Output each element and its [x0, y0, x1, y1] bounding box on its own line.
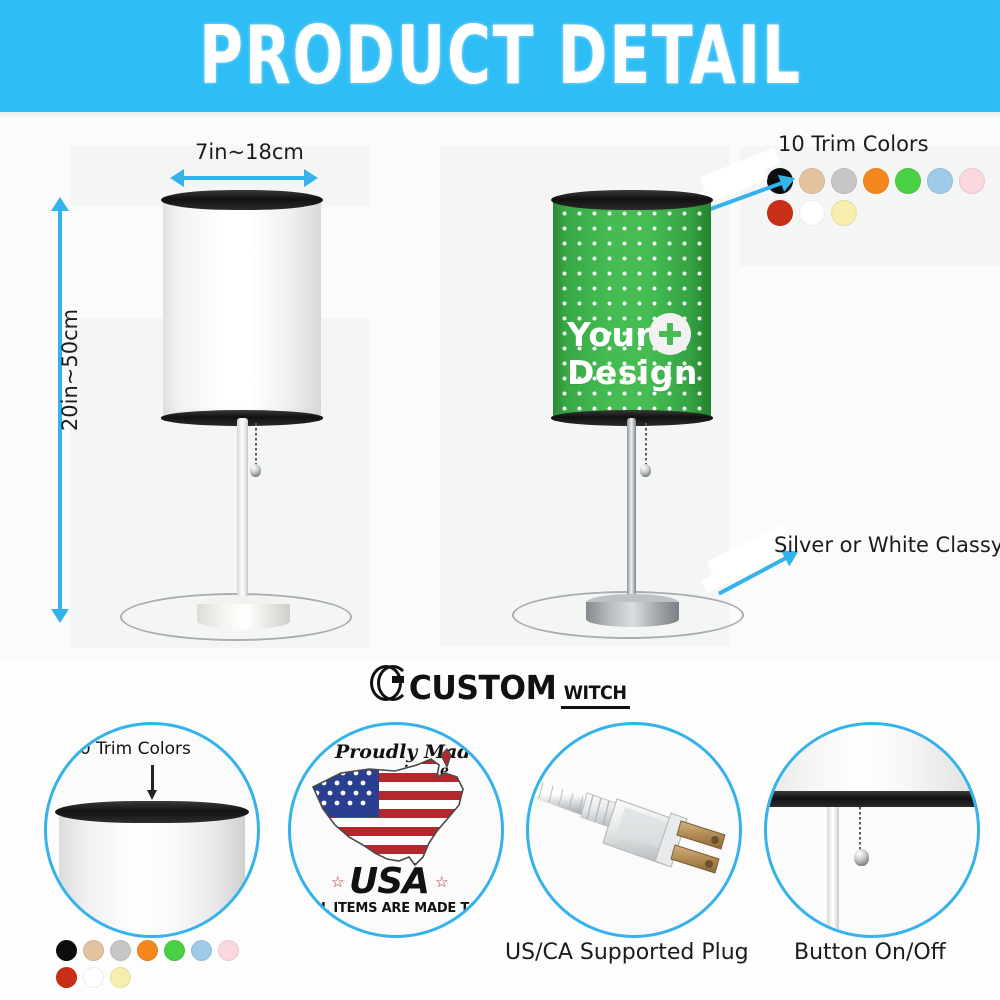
swatch-tan[interactable]: [83, 940, 104, 961]
shade-surface: Your Design: [553, 200, 711, 418]
lamp-base: [197, 596, 290, 636]
header-banner: PRODUCT DETAIL: [0, 0, 1000, 112]
pull-chain[interactable]: [255, 423, 257, 465]
trim-colors-title: 10 Trim Colors: [778, 132, 929, 156]
star-icon-right: ☆: [435, 873, 448, 891]
shade-top-trim: [55, 801, 249, 823]
swatch-yellow[interactable]: [831, 200, 857, 226]
swatch-green[interactable]: [164, 940, 185, 961]
lamp-showcase: 10 Trim Colors 7in~18cm 20in~50cm: [0, 118, 1000, 660]
brand-underline: [561, 706, 629, 709]
pull-chain[interactable]: [859, 807, 861, 851]
shade-top-trim: [161, 190, 323, 210]
pull-chain-knob[interactable]: [854, 849, 869, 866]
lamp-pole: [237, 418, 248, 604]
swatch-pink[interactable]: [959, 168, 985, 194]
shade-bottom-trim: [764, 791, 980, 807]
c-logo-icon: [370, 663, 404, 699]
lamp-pole: [827, 807, 839, 937]
shade-surface: [59, 815, 245, 938]
plus-icon[interactable]: [649, 313, 691, 355]
pull-chain-knob[interactable]: [250, 464, 261, 477]
feature-trim-swatches[interactable]: [56, 940, 261, 988]
brand-logo: CUSTOM WITCH: [0, 660, 1000, 712]
swatch-black[interactable]: [56, 940, 77, 961]
feature-plug: [526, 722, 742, 938]
pull-chain[interactable]: [645, 423, 647, 465]
base-side: [586, 602, 679, 627]
base-side: [197, 604, 290, 629]
width-dimension-label: 7in~18cm: [195, 140, 304, 164]
feature-plug-caption: US/CA Supported Plug: [505, 940, 749, 965]
product-detail-page: PRODUCT DETAIL 10 Trim Colors 7in~18cm 2…: [0, 0, 1000, 1000]
swatch-red[interactable]: [767, 200, 793, 226]
swatch-green[interactable]: [895, 168, 921, 194]
page-title: PRODUCT DETAIL: [199, 9, 802, 102]
swatch-orange[interactable]: [137, 940, 158, 961]
pull-chain-knob[interactable]: [640, 464, 651, 477]
swatch-red[interactable]: [56, 967, 77, 988]
lamp-pole: [627, 418, 636, 602]
usa-big-text: USA: [349, 861, 429, 902]
lamp-base: [586, 594, 679, 634]
swatch-light-blue[interactable]: [191, 940, 212, 961]
swatch-orange[interactable]: [863, 168, 889, 194]
base-finish-label: Silver or White Classy: [774, 533, 1000, 557]
shade-top-trim: [551, 190, 713, 210]
shade-surface: [764, 722, 980, 795]
your-design-line2: Design: [567, 356, 698, 389]
swatch-tan[interactable]: [799, 168, 825, 194]
width-dimension-arrow: [183, 176, 305, 180]
height-dimension-label: 20in~50cm: [58, 275, 82, 465]
swatch-white[interactable]: [83, 967, 104, 988]
brand-name-sub: WITCH: [564, 684, 627, 703]
trim-color-swatches[interactable]: [767, 168, 1000, 226]
usa-made-to-order: ALL ITEMS ARE MADE TO ORDER!: [303, 901, 504, 916]
feature-made-in-usa: Proudly Made in the: [288, 722, 504, 938]
swatch-gray[interactable]: [110, 940, 131, 961]
swatch-pink[interactable]: [218, 940, 239, 961]
swatch-yellow[interactable]: [110, 967, 131, 988]
feature-trim-colors: 10 Trim Colors: [44, 722, 260, 938]
your-design-line1: Your: [567, 318, 652, 351]
star-icon-left: ☆: [331, 873, 344, 891]
feature-trim-mini-label: 10 Trim Colors: [69, 739, 191, 759]
shade-surface: [163, 200, 321, 418]
feature-panels: 10 Trim Colors Proudly Made in the: [0, 714, 1000, 1000]
swatch-white[interactable]: [799, 200, 825, 226]
swatch-gray[interactable]: [831, 168, 857, 194]
trim-pointer-arrow: [151, 765, 154, 791]
green-lamp-shade: Your Design: [553, 200, 711, 418]
feature-switch: [764, 722, 980, 938]
white-lamp-shade: [163, 200, 321, 418]
swatch-light-blue[interactable]: [927, 168, 953, 194]
feature-switch-caption: Button On/Off: [794, 940, 946, 965]
brand-name-main: CUSTOM: [409, 668, 556, 707]
us-plug-icon: [529, 725, 739, 935]
